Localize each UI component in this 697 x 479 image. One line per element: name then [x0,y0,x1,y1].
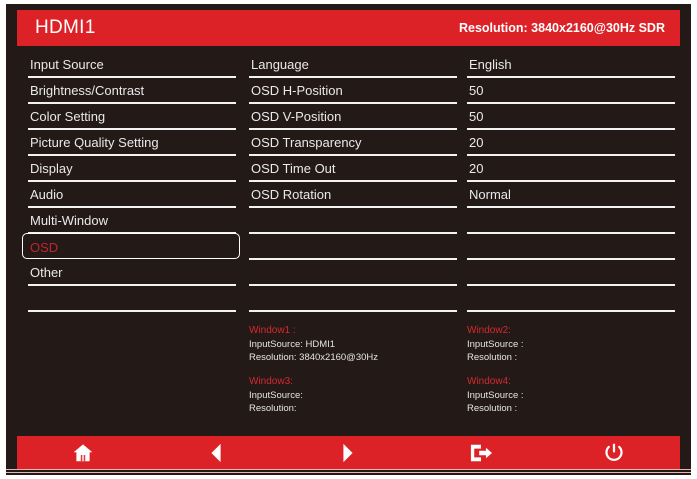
setting-row-language[interactable]: Language [249,52,457,78]
sidebar-item-input-source[interactable]: Input Source [28,52,236,78]
sidebar-item-label: Picture Quality Setting [28,136,159,149]
setting-row-osd-rotation[interactable]: OSD Rotation [249,182,457,208]
setting-value-osd-v-position[interactable]: 50 [467,104,675,130]
exit-icon [468,442,494,464]
setting-name-label: OSD Time Out [249,162,336,175]
sidebar-item-picture-quality-setting[interactable]: Picture Quality Setting [28,130,236,156]
triangle-left-icon [208,442,224,464]
sidebar-item-label: Color Setting [28,110,105,123]
setting-row-empty [249,208,457,234]
setting-value-label: 20 [467,162,483,175]
setting-value-label: 50 [467,110,483,123]
osd-body: Input Source Brightness/Contrast Color S… [6,52,691,429]
window-info-window2: Window2: InputSource : Resolution : [467,324,524,364]
window-info-input-source: InputSource: HDMI1 [249,338,378,351]
window-info-resolution: Resolution: 3840x2160@30Hz [249,351,378,364]
setting-row-empty [249,234,457,260]
home-button[interactable] [17,436,150,469]
setting-name-label: OSD V-Position [249,110,341,123]
power-button[interactable] [547,436,680,469]
setting-value-osd-transparency[interactable]: 20 [467,130,675,156]
setting-row-osd-h-position[interactable]: OSD H-Position [249,78,457,104]
setting-value-label: 50 [467,84,483,97]
setting-value-language[interactable]: English [467,52,675,78]
window-info-left: Window1 : InputSource: HDMI1 Resolution:… [249,324,378,415]
window-info-window1: Window1 : InputSource: HDMI1 Resolution:… [249,324,378,364]
osd-toolbar [17,436,680,469]
window-info-input-source: InputSource: [249,389,378,402]
setting-value-empty [467,208,675,234]
setting-names-column: Language OSD H-Position OSD V-Position O… [249,52,457,312]
window-info-resolution: Resolution: [249,402,378,415]
sidebar-item-label: Audio [28,188,63,201]
home-icon [72,442,94,464]
previous-button[interactable] [150,436,283,469]
window-info-title: Window4: [467,375,524,388]
sidebar-item-label: Brightness/Contrast [28,84,144,97]
setting-name-label: OSD H-Position [249,84,343,97]
setting-value-label: 20 [467,136,483,149]
sidebar-item-label: Input Source [28,58,104,71]
sidebar-item-multi-window[interactable]: Multi-Window [28,208,236,234]
setting-name-label: OSD Rotation [249,188,331,201]
setting-value-osd-time-out[interactable]: 20 [467,156,675,182]
setting-value-osd-h-position[interactable]: 50 [467,78,675,104]
window-info-window3: Window3: InputSource: Resolution: [249,375,378,415]
setting-row-osd-transparency[interactable]: OSD Transparency [249,130,457,156]
frame-hairline-top [6,469,691,470]
window-info-title: Window3: [249,375,378,388]
resolution-status: Resolution: 3840x2160@30Hz SDR [459,21,665,35]
sidebar-item-label: Multi-Window [28,214,108,227]
osd-screen: HDMI1 Resolution: 3840x2160@30Hz SDR Inp… [0,0,697,479]
power-icon [603,442,625,464]
window-info-resolution: Resolution : [467,351,524,364]
setting-name-label: OSD Transparency [249,136,362,149]
setting-value-label: Normal [467,188,511,201]
sidebar-item-label: OSD [28,241,58,254]
frame-hairline-bottom [6,472,691,473]
setting-value-empty [467,260,675,286]
page-title: HDMI1 [35,17,96,39]
setting-row-empty [249,286,457,312]
setting-value-osd-rotation[interactable]: Normal [467,182,675,208]
sidebar-item-empty [28,286,236,312]
setting-value-empty [467,234,675,260]
sidebar-item-display[interactable]: Display [28,156,236,182]
window-info-title: Window2: [467,324,524,337]
sidebar-item-brightness-contrast[interactable]: Brightness/Contrast [28,78,236,104]
sidebar-item-color-setting[interactable]: Color Setting [28,104,236,130]
sidebar-item-osd[interactable]: OSD [28,234,236,260]
sidebar-item-other[interactable]: Other [28,260,236,286]
window-info-window4: Window4: InputSource : Resolution : [467,375,524,415]
setting-row-empty [249,260,457,286]
osd-panel: HDMI1 Resolution: 3840x2160@30Hz SDR Inp… [6,4,691,475]
setting-row-osd-time-out[interactable]: OSD Time Out [249,156,457,182]
next-button[interactable] [282,436,415,469]
window-info-title: Window1 : [249,324,378,337]
setting-value-label: English [467,58,512,71]
window-info-input-source: InputSource : [467,338,524,351]
setting-value-empty [467,286,675,312]
sidebar-item-audio[interactable]: Audio [28,182,236,208]
setting-name-label: Language [249,58,309,71]
exit-button[interactable] [415,436,548,469]
main-menu-column: Input Source Brightness/Contrast Color S… [28,52,236,312]
osd-header-bar: HDMI1 Resolution: 3840x2160@30Hz SDR [17,10,680,46]
setting-row-osd-v-position[interactable]: OSD V-Position [249,104,457,130]
sidebar-item-label: Other [28,266,63,279]
window-info-resolution: Resolution : [467,402,524,415]
setting-values-column: English 50 50 20 20 Normal [467,52,675,312]
sidebar-item-label: Display [28,162,73,175]
window-info-input-source: InputSource : [467,389,524,402]
window-info-right: Window2: InputSource : Resolution : Wind… [467,324,524,415]
triangle-right-icon [340,442,356,464]
